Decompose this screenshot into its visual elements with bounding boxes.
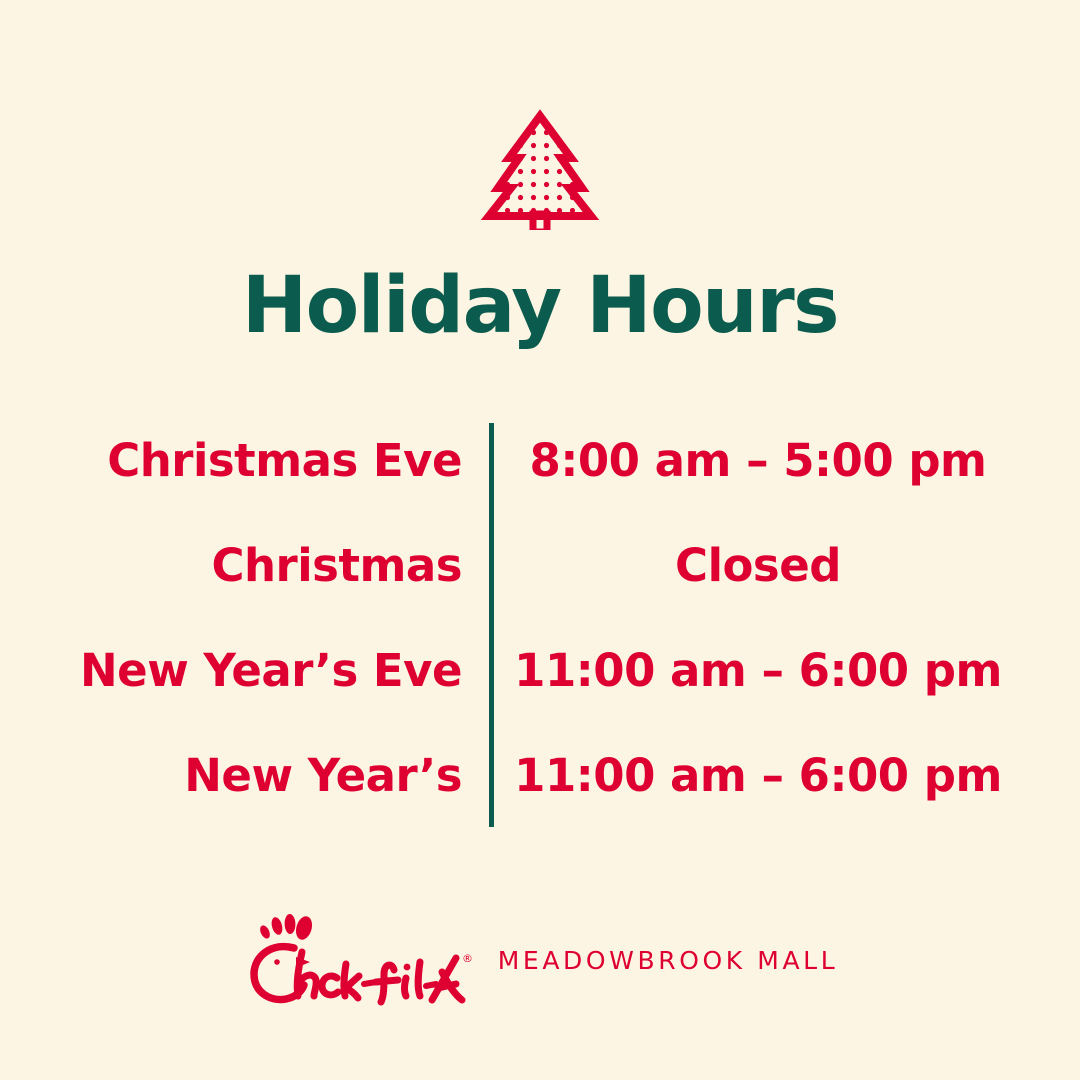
holiday-hours-poster: Holiday Hours Christmas Eve 8:00 am – 5:…: [0, 0, 1080, 1080]
table-row: Christmas Eve 8:00 am – 5:00 pm: [0, 408, 1080, 513]
registered-trademark-symbol: ®: [462, 952, 472, 965]
day-label: Christmas Eve: [0, 435, 462, 487]
table-row: New Year’s 11:00 am – 6:00 pm: [0, 723, 1080, 828]
footer-branding: ® MEADOWBROOK MALL: [0, 912, 1080, 1008]
hours-value: 8:00 am – 5:00 pm: [494, 435, 1080, 487]
day-label: New Year’s: [0, 750, 462, 802]
page-title: Holiday Hours: [0, 258, 1080, 354]
table-row: New Year’s Eve 11:00 am – 6:00 pm: [0, 618, 1080, 723]
day-label: New Year’s Eve: [0, 645, 462, 697]
hours-value: 11:00 am – 6:00 pm: [494, 645, 1080, 697]
store-name: MEADOWBROOK MALL: [498, 946, 838, 975]
christmas-tree-icon-container: [0, 100, 1080, 230]
hours-value: 11:00 am – 6:00 pm: [494, 750, 1080, 802]
hours-value: Closed: [494, 540, 1080, 592]
christmas-tree-icon: [475, 100, 605, 230]
table-row: Christmas Closed: [0, 513, 1080, 618]
holiday-hours-table: Christmas Eve 8:00 am – 5:00 pm Christma…: [0, 408, 1080, 828]
day-label: Christmas: [0, 540, 462, 592]
chick-fil-a-logo: ®: [242, 912, 472, 1008]
